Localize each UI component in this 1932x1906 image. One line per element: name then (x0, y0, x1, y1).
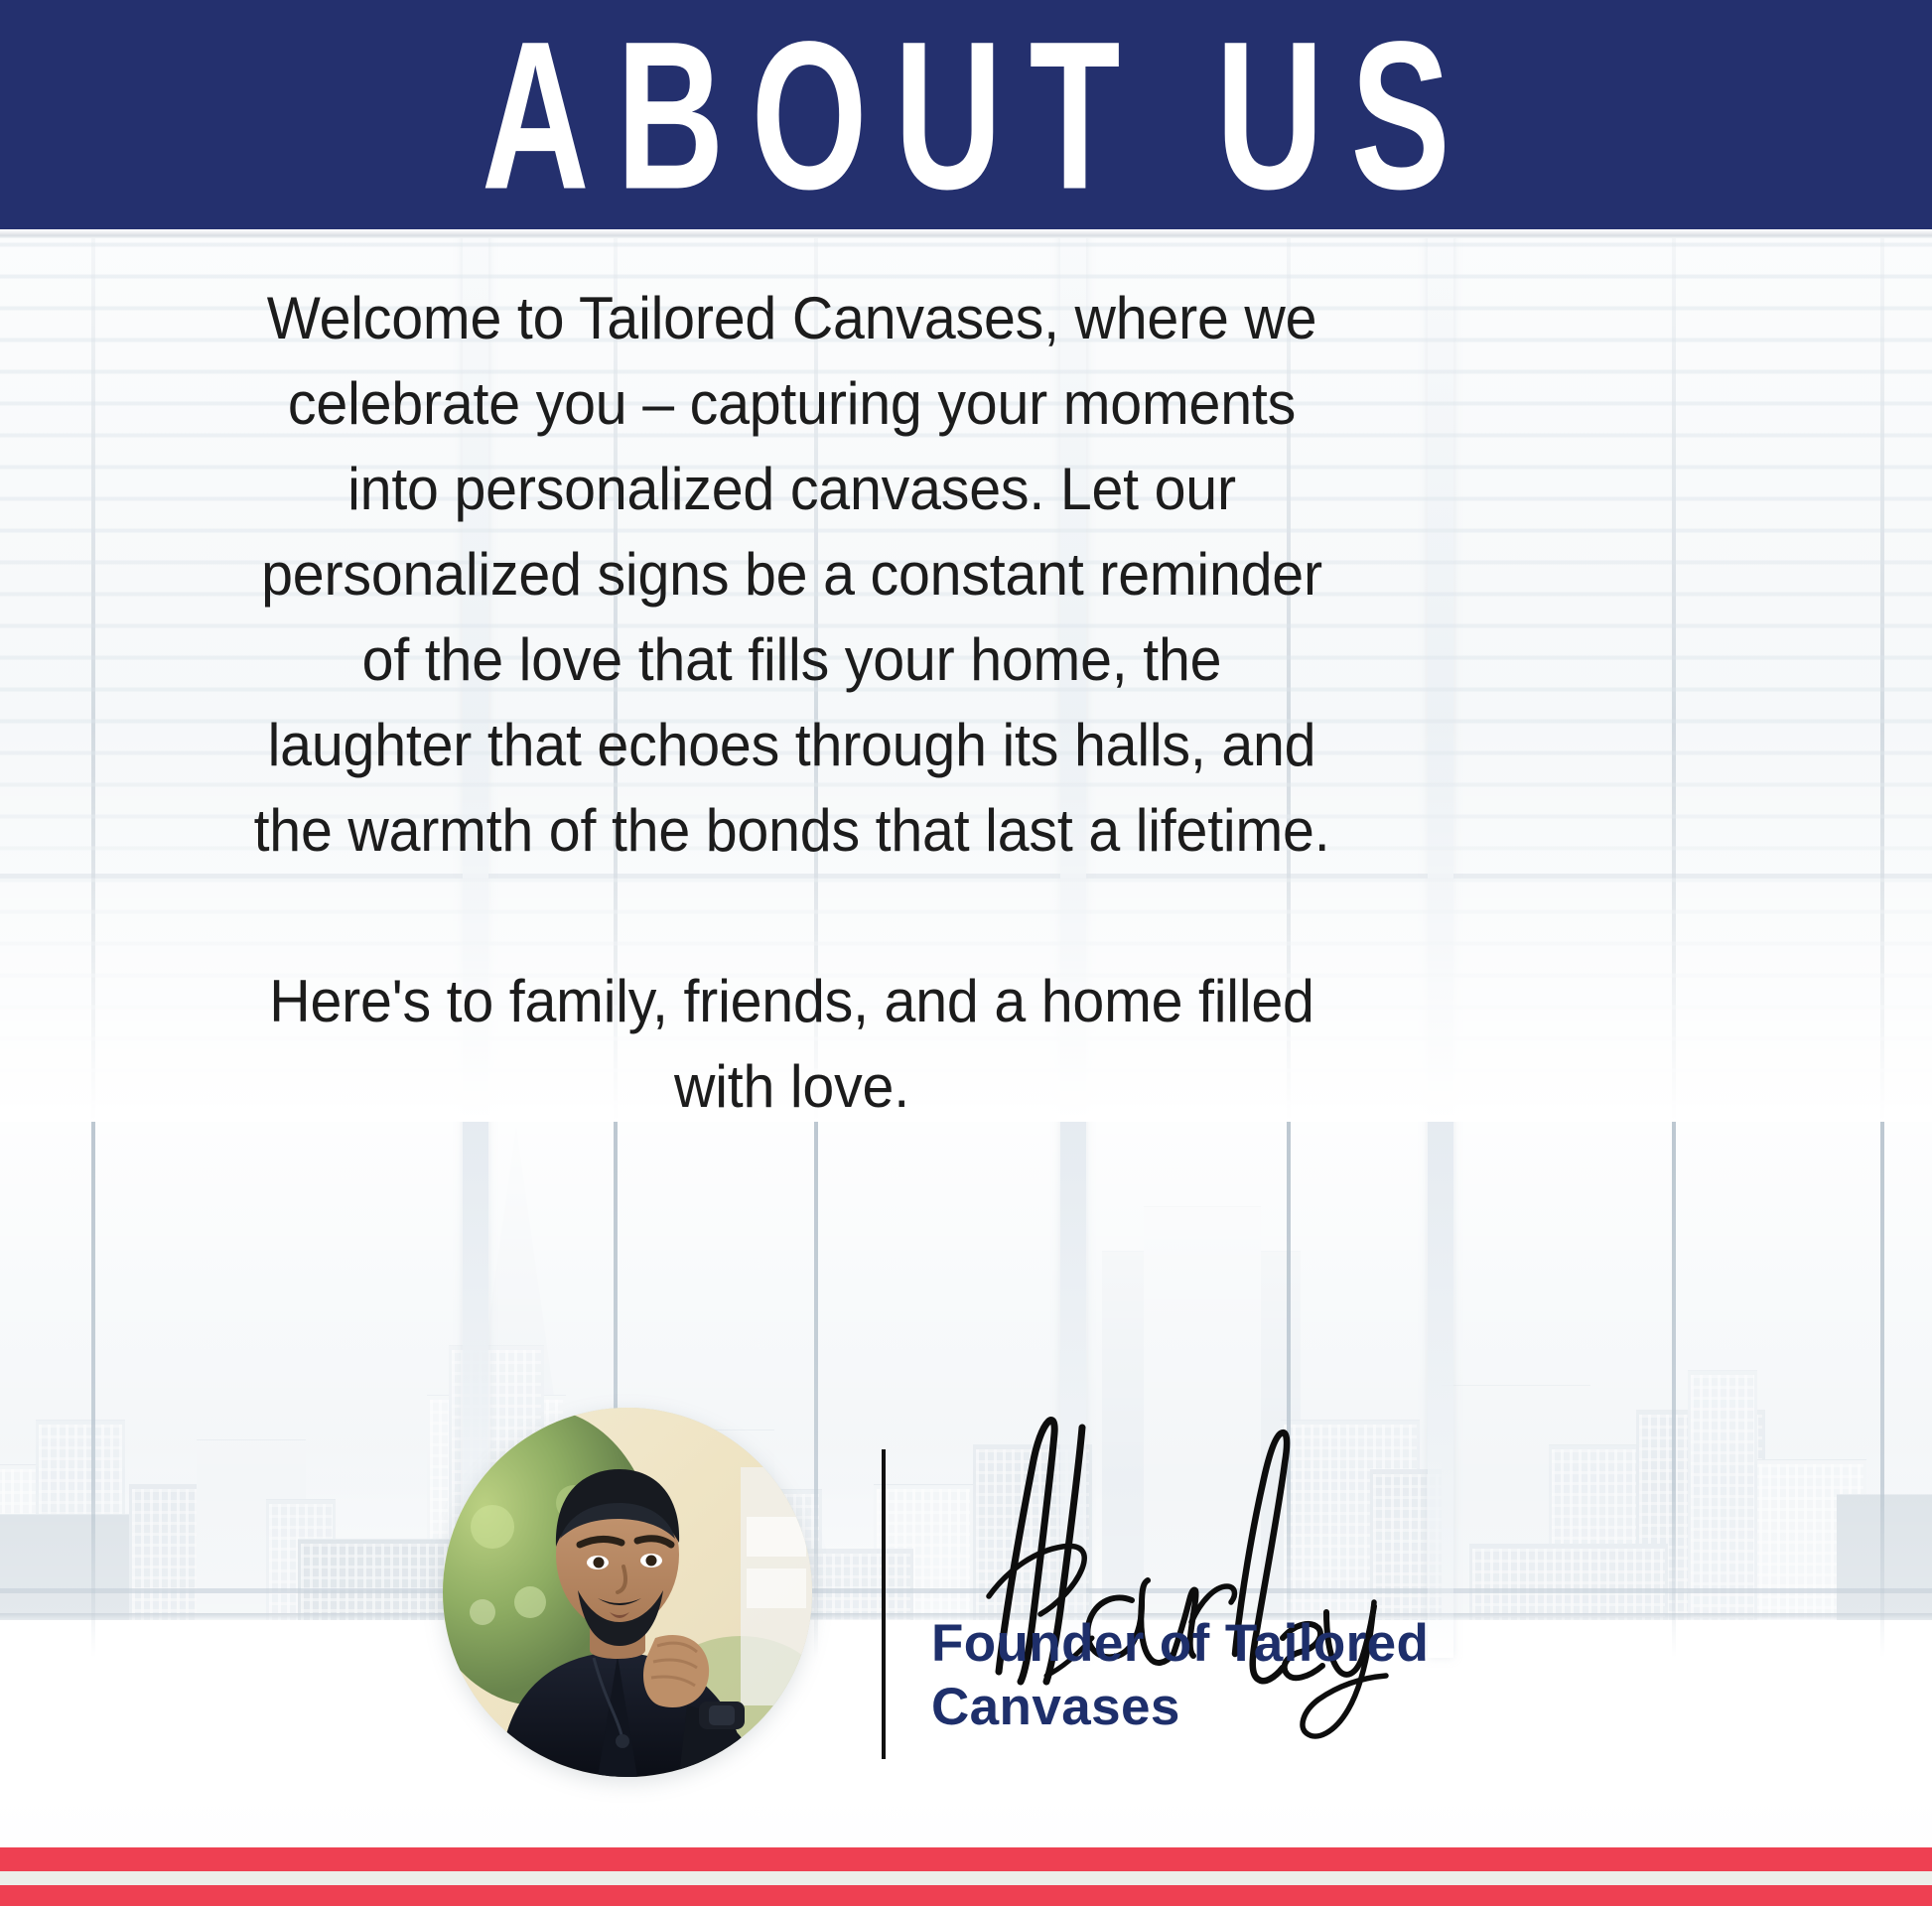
paragraph-spacer (254, 874, 1330, 959)
about-copy: Welcome to Tailored Canvases, where we c… (254, 276, 1330, 1130)
about-paragraph-1: Welcome to Tailored Canvases, where we c… (254, 276, 1330, 874)
founder-role: Founder of Tailored Canvases (931, 1612, 1626, 1739)
header-bar: ABOUT US (0, 0, 1932, 229)
avatar (443, 1408, 812, 1777)
signature-divider (882, 1449, 886, 1759)
accent-stripe-bottom (0, 1885, 1932, 1906)
founder-role-line-1: Founder of Tailored (931, 1612, 1626, 1676)
founder-role-line-2: Canvases (931, 1676, 1626, 1739)
about-paragraph-2: Here's to family, friends, and a home fi… (254, 959, 1330, 1130)
about-us-poster: ABOUT US Welcome to Tailored Canvases, w… (0, 0, 1932, 1906)
accent-stripe-gap (0, 1871, 1932, 1885)
header-underline (0, 229, 1932, 238)
page-title: ABOUT US (455, 9, 1477, 219)
accent-stripe-top (0, 1847, 1932, 1871)
